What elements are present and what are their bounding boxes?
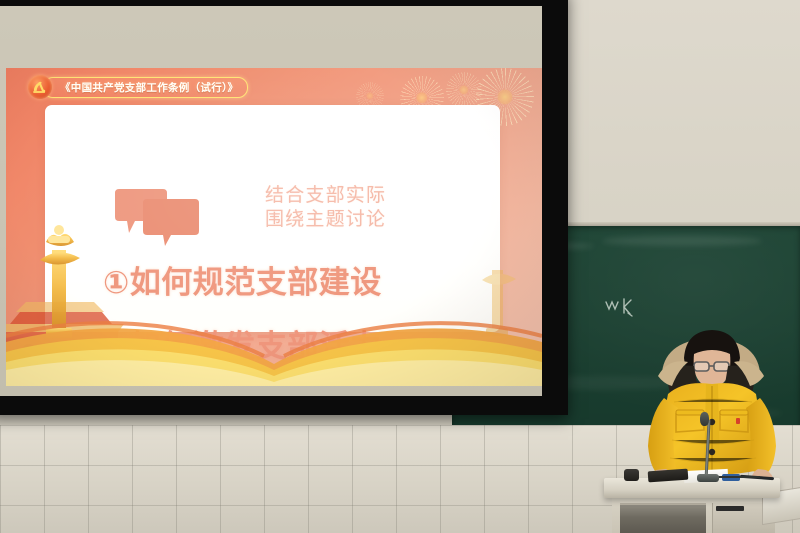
lectern-drawer-handle[interactable] (716, 506, 744, 511)
slide-document-title-text: 《中国共产党支部工作条例（试行）》 (60, 80, 238, 95)
slide-document-title: 《中国共产党支部工作条例（试行）》 (43, 77, 248, 98)
small-device[interactable] (624, 469, 639, 481)
slide-question-2: ②如何激发支部活力 (103, 321, 382, 366)
slide-subtitle-line-2: 围绕主题讨论 (265, 207, 386, 231)
presentation-slide: 《中国共产党支部工作条例（试行）》 结合支部实际 围绕主题讨论 ①如何规范支部建… (6, 68, 542, 386)
projection-screen-surface: 《中国共产党支部工作条例（试行）》 结合支部实际 围绕主题讨论 ①如何规范支部建… (0, 6, 542, 396)
speech-bubbles-icon (113, 189, 201, 247)
slide-content-card: 结合支部实际 围绕主题讨论 ①如何规范支部建设 ②如何激发支部活力 (45, 105, 500, 332)
microphone-head (700, 412, 709, 426)
party-emblem-icon (28, 75, 52, 99)
slide-question-1: ①如何规范支部建设 (103, 257, 382, 302)
lectern-recess (620, 503, 706, 533)
slide-title-bar: 《中国共产党支部工作条例（试行）》 (28, 76, 248, 98)
screenshot-root: 《中国共产党支部工作条例（试行）》 结合支部实际 围绕主题讨论 ①如何规范支部建… (0, 0, 800, 533)
microphone-base (697, 474, 719, 482)
chalkboard-writing (604, 296, 644, 318)
slide-subtitle: 结合支部实际 围绕主题讨论 (265, 183, 386, 231)
slide-subtitle-line-1: 结合支部实际 (265, 183, 386, 207)
projection-screen-frame: 《中国共产党支部工作条例（试行）》 结合支部实际 围绕主题讨论 ①如何规范支部建… (0, 0, 568, 415)
microphone-cable (714, 476, 760, 487)
